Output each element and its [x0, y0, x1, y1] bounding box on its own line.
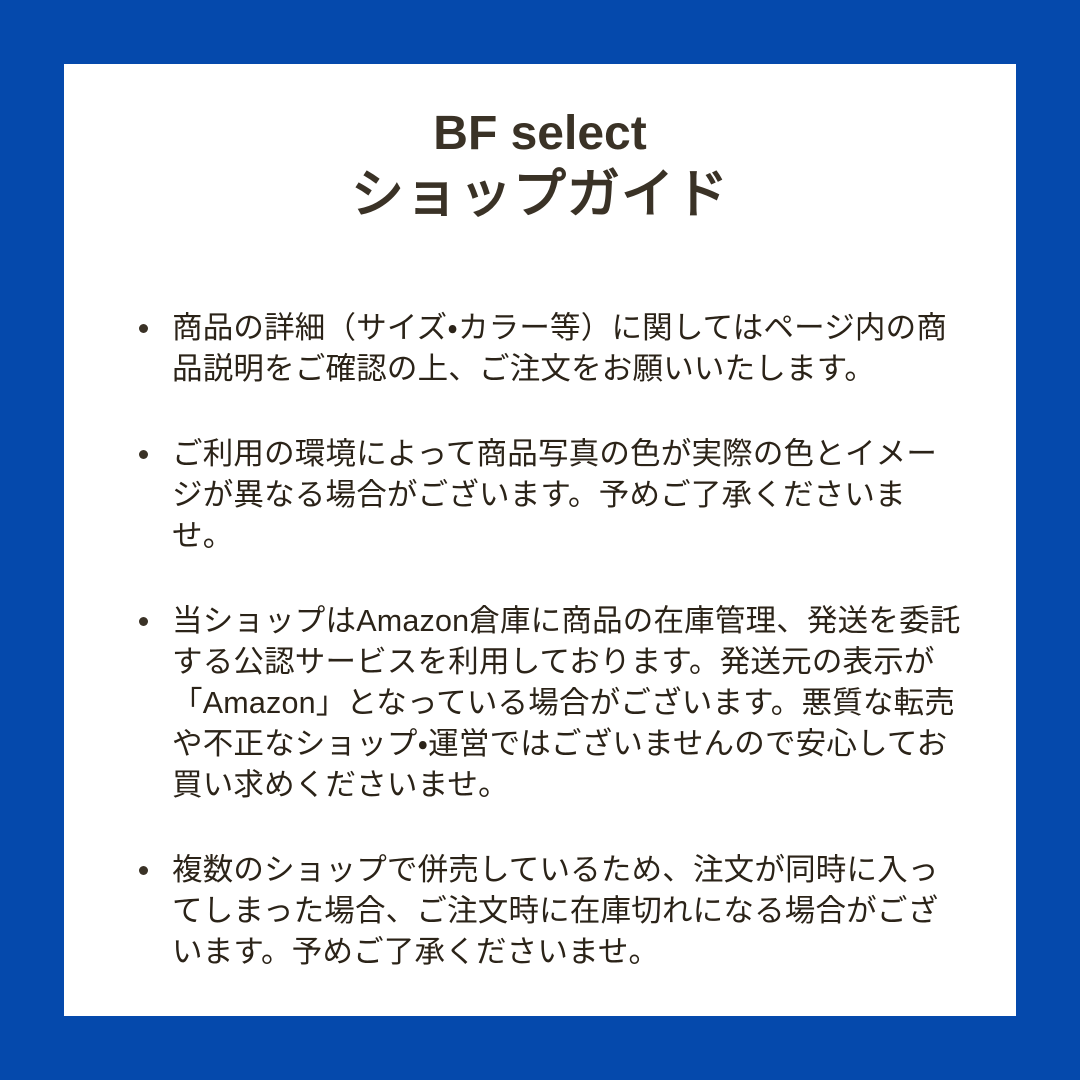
blue-border-frame: BF select ショップガイド 商品の詳細（サイズ・カラー等）に関してはペー… [0, 0, 1080, 1080]
white-content-panel: BF select ショップガイド 商品の詳細（サイズ・カラー等）に関してはペー… [64, 64, 1016, 1016]
bullet-dot-icon [139, 617, 148, 626]
list-item: 商品の詳細（サイズ・カラー等）に関してはページ内の商品説明をご確認の上、ご注文を… [130, 308, 962, 390]
bullet-dot-icon [139, 866, 148, 875]
list-item: 複数のショップで併売しているため、注文が同時に入ってしまった場合、ご注文時に在庫… [130, 850, 962, 973]
list-item-text: 複数のショップで併売しているため、注文が同時に入ってしまった場合、ご注文時に在庫… [172, 850, 962, 973]
list-item-text: 商品の詳細（サイズ・カラー等）に関してはページ内の商品説明をご確認の上、ご注文を… [172, 308, 962, 390]
list-item: ご利用の環境によって商品写真の色が実際の色とイメージが異なる場合がございます。予… [130, 434, 962, 557]
title-line-japanese: ショップガイド [64, 168, 1016, 221]
bullet-dot-icon [139, 450, 148, 459]
bullet-dot-icon [139, 324, 148, 333]
title-line-english: BF select [64, 110, 1016, 168]
page-title: BF select ショップガイド [64, 64, 1016, 221]
list-item-text: ご利用の環境によって商品写真の色が実際の色とイメージが異なる場合がございます。予… [172, 434, 962, 557]
list-item-text: 当ショップはAmazon倉庫に商品の在庫管理、発送を委託する公認サービスを利用し… [172, 601, 962, 806]
guide-list: 商品の詳細（サイズ・カラー等）に関してはページ内の商品説明をご確認の上、ご注文を… [130, 308, 962, 973]
list-item: 当ショップはAmazon倉庫に商品の在庫管理、発送を委託する公認サービスを利用し… [130, 601, 962, 806]
